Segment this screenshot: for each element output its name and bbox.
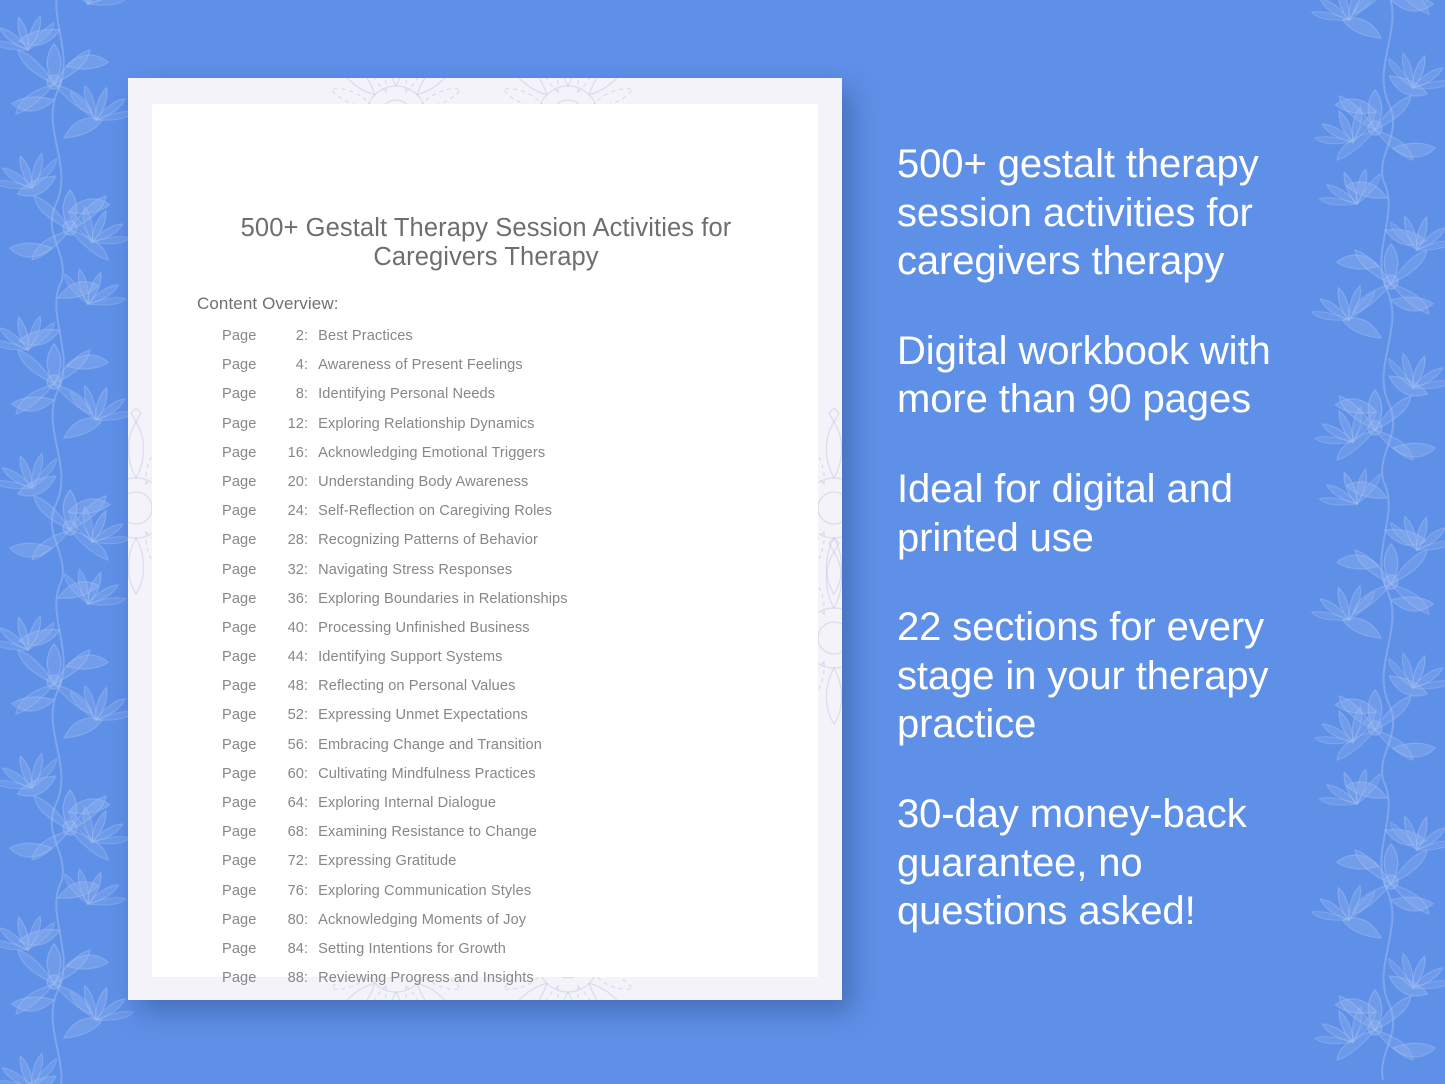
toc-page-number: 72 [278,853,304,869]
toc-row: Page12:Exploring Relationship Dynamics [222,416,792,445]
toc-row: Page48:Reflecting on Personal Values [222,678,792,707]
floral-vine-left-icon [0,0,142,1084]
toc-separator: : [304,678,318,694]
marketing-copy-block: Digital workbook with more than 90 pages [897,327,1317,424]
toc-page-word: Page [222,824,278,840]
toc-separator: : [304,386,318,402]
toc-row: Page64:Exploring Internal Dialogue [222,795,792,824]
toc-page-number: 56 [278,737,304,753]
toc-row: Page84:Setting Intentions for Growth [222,941,792,970]
toc-page-number: 60 [278,766,304,782]
toc-page-number: 8 [278,386,304,402]
marketing-copy-column: 500+ gestalt therapy session activities … [897,140,1317,936]
floral-vine-right-icon [1303,0,1445,1084]
product-mockup-canvas: 500+ Gestalt Therapy Session Activities … [0,0,1445,1084]
toc-entry-title: Understanding Body Awareness [318,474,528,490]
toc-page-word: Page [222,707,278,723]
toc-page-number: 76 [278,883,304,899]
toc-page-word: Page [222,766,278,782]
toc-separator: : [304,970,318,986]
toc-row: Page92:Notes Template [222,999,792,1000]
toc-page-number: 24 [278,503,304,519]
toc-entry-title: Cultivating Mindfulness Practices [318,766,535,782]
marketing-copy-block: 500+ gestalt therapy session activities … [897,140,1317,286]
toc-entry-title: Best Practices [318,328,413,344]
marketing-copy-block: Ideal for digital and printed use [897,465,1317,562]
toc-separator: : [304,357,318,373]
toc-entry-title: Examining Resistance to Change [318,824,537,840]
workbook-page-sheet: 500+ Gestalt Therapy Session Activities … [152,104,818,977]
toc-page-word: Page [222,620,278,636]
toc-row: Page88:Reviewing Progress and Insights [222,970,792,999]
toc-page-word: Page [222,649,278,665]
toc-page-word: Page [222,386,278,402]
toc-row: Page8:Identifying Personal Needs [222,386,792,415]
toc-separator: : [304,853,318,869]
toc-page-word: Page [222,853,278,869]
toc-page-word: Page [222,678,278,694]
toc-row: Page68:Examining Resistance to Change [222,824,792,853]
toc-separator: : [304,416,318,432]
toc-page-number: 28 [278,532,304,548]
toc-separator: : [304,912,318,928]
toc-row: Page36:Exploring Boundaries in Relations… [222,591,792,620]
toc-page-word: Page [222,912,278,928]
toc-row: Page20:Understanding Body Awareness [222,474,792,503]
toc-entry-title: Recognizing Patterns of Behavior [318,532,538,548]
toc-separator: : [304,795,318,811]
toc-page-word: Page [222,562,278,578]
toc-entry-title: Expressing Unmet Expectations [318,707,528,723]
toc-row: Page56:Embracing Change and Transition [222,737,792,766]
toc-row: Page76:Exploring Communication Styles [222,883,792,912]
toc-entry-title: Notes Template [318,999,421,1000]
toc-page-word: Page [222,532,278,548]
toc-page-word: Page [222,328,278,344]
toc-row: Page32:Navigating Stress Responses [222,562,792,591]
toc-page-number: 68 [278,824,304,840]
toc-entry-title: Setting Intentions for Growth [318,941,506,957]
toc-page-number: 92 [278,999,304,1000]
toc-page-number: 2 [278,328,304,344]
toc-entry-title: Expressing Gratitude [318,853,456,869]
toc-entry-title: Reflecting on Personal Values [318,678,515,694]
toc-entry-title: Navigating Stress Responses [318,562,512,578]
toc-page-word: Page [222,357,278,373]
toc-entry-title: Acknowledging Moments of Joy [318,912,526,928]
toc-separator: : [304,620,318,636]
toc-page-number: 16 [278,445,304,461]
marketing-copy-block: 22 sections for every stage in your ther… [897,603,1317,749]
toc-page-word: Page [222,883,278,899]
toc-page-number: 40 [278,620,304,636]
toc-page-number: 52 [278,707,304,723]
toc-row: Page2:Best Practices [222,328,792,357]
toc-row: Page72:Expressing Gratitude [222,853,792,882]
toc-page-number: 84 [278,941,304,957]
toc-entry-title: Identifying Support Systems [318,649,502,665]
toc-separator: : [304,737,318,753]
toc-page-word: Page [222,445,278,461]
toc-row: Page28:Recognizing Patterns of Behavior [222,532,792,561]
toc-page-word: Page [222,970,278,986]
toc-page-word: Page [222,999,278,1000]
toc-page-number: 32 [278,562,304,578]
toc-row: Page16:Acknowledging Emotional Triggers [222,445,792,474]
toc-page-number: 88 [278,970,304,986]
toc-row: Page24:Self-Reflection on Caregiving Rol… [222,503,792,532]
workbook-preview-card: 500+ Gestalt Therapy Session Activities … [128,78,842,1000]
toc-separator: : [304,445,318,461]
toc-separator: : [304,649,318,665]
toc-page-number: 80 [278,912,304,928]
toc-row: Page4:Awareness of Present Feelings [222,357,792,386]
toc-entry-title: Awareness of Present Feelings [318,357,523,373]
toc-page-number: 20 [278,474,304,490]
toc-entry-title: Exploring Relationship Dynamics [318,416,534,432]
toc-page-word: Page [222,474,278,490]
toc-row: Page52:Expressing Unmet Expectations [222,707,792,736]
toc-page-word: Page [222,941,278,957]
toc-page-word: Page [222,591,278,607]
toc-separator: : [304,328,318,344]
toc-page-word: Page [222,795,278,811]
toc-page-number: 12 [278,416,304,432]
toc-page-number: 4 [278,357,304,373]
toc-separator: : [304,999,318,1000]
toc-separator: : [304,591,318,607]
toc-page-number: 44 [278,649,304,665]
toc-separator: : [304,707,318,723]
toc-separator: : [304,941,318,957]
toc-entry-title: Exploring Internal Dialogue [318,795,496,811]
toc-page-word: Page [222,416,278,432]
toc-entry-title: Exploring Boundaries in Relationships [318,591,568,607]
marketing-copy-block: 30-day money-back guarantee, no question… [897,790,1317,936]
toc-page-number: 64 [278,795,304,811]
toc-separator: : [304,503,318,519]
toc-separator: : [304,474,318,490]
toc-entry-title: Processing Unfinished Business [318,620,529,636]
page-title: 500+ Gestalt Therapy Session Activities … [198,214,774,272]
toc-separator: : [304,562,318,578]
toc-page-number: 36 [278,591,304,607]
toc-separator: : [304,824,318,840]
toc-row: Page44:Identifying Support Systems [222,649,792,678]
toc-entry-title: Acknowledging Emotional Triggers [318,445,545,461]
content-overview-label: Content Overview: [197,294,339,314]
toc-entry-title: Identifying Personal Needs [318,386,495,402]
toc-row: Page80:Acknowledging Moments of Joy [222,912,792,941]
toc-row: Page60:Cultivating Mindfulness Practices [222,766,792,795]
toc-page-word: Page [222,503,278,519]
toc-row: Page40:Processing Unfinished Business [222,620,792,649]
toc-entry-title: Exploring Communication Styles [318,883,531,899]
toc-entry-title: Self-Reflection on Caregiving Roles [318,503,552,519]
toc-entry-title: Embracing Change and Transition [318,737,542,753]
toc-entry-title: Reviewing Progress and Insights [318,970,534,986]
toc-separator: : [304,883,318,899]
toc-page-word: Page [222,737,278,753]
toc-separator: : [304,532,318,548]
table-of-contents: Page2:Best PracticesPage4:Awareness of P… [222,328,792,1000]
toc-separator: : [304,766,318,782]
toc-page-number: 48 [278,678,304,694]
